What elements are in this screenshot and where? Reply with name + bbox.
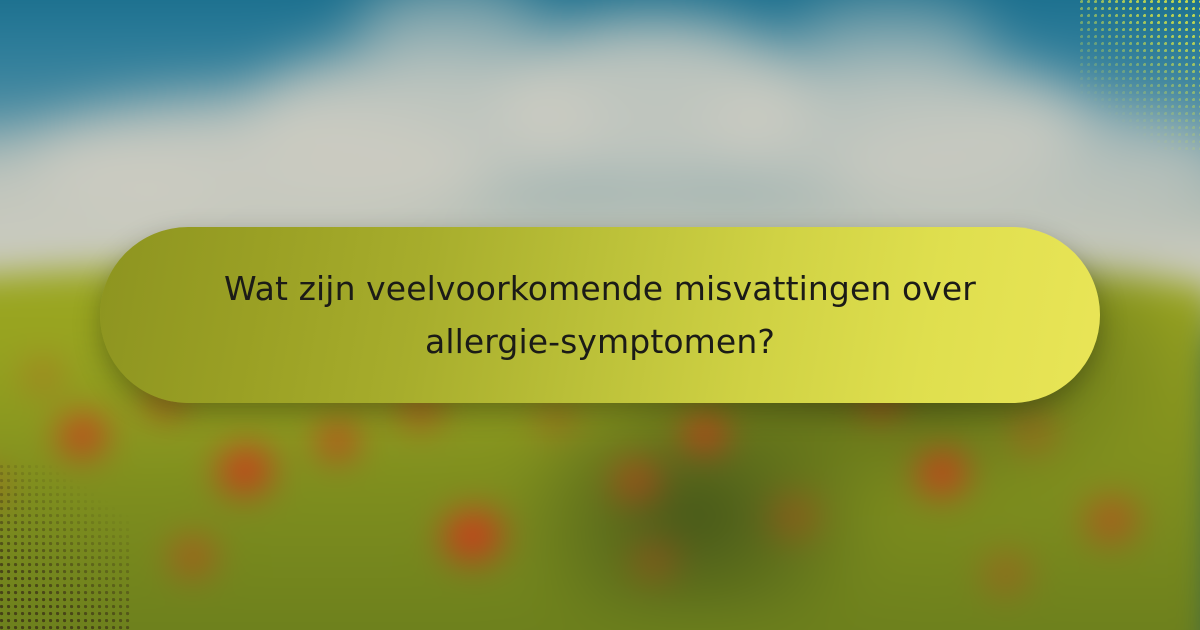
cloud (791, 0, 992, 87)
poppy-flower (1085, 498, 1142, 545)
poppy-flower (770, 495, 825, 542)
poppy-flower (25, 361, 63, 393)
page-title: Wat zijn veelvoorkomende misvattingen ov… (170, 262, 1030, 369)
poppy-flower (1011, 414, 1060, 454)
poppy-flower (319, 424, 359, 460)
poppy-flower (632, 541, 683, 583)
share-card: Wat zijn veelvoorkomende misvattingen ov… (0, 0, 1200, 630)
title-pill: Wat zijn veelvoorkomende misvattingen ov… (100, 227, 1100, 403)
poppy-flower (918, 453, 971, 498)
poppy-flower (982, 554, 1037, 596)
poppy-flower (536, 400, 578, 436)
poppy-flower (218, 448, 277, 497)
poppy-flower (59, 416, 110, 458)
poppy-flower (443, 511, 509, 564)
poppy-flower (685, 416, 730, 454)
poppy-flower (171, 538, 220, 578)
poppy-flower (613, 460, 666, 505)
